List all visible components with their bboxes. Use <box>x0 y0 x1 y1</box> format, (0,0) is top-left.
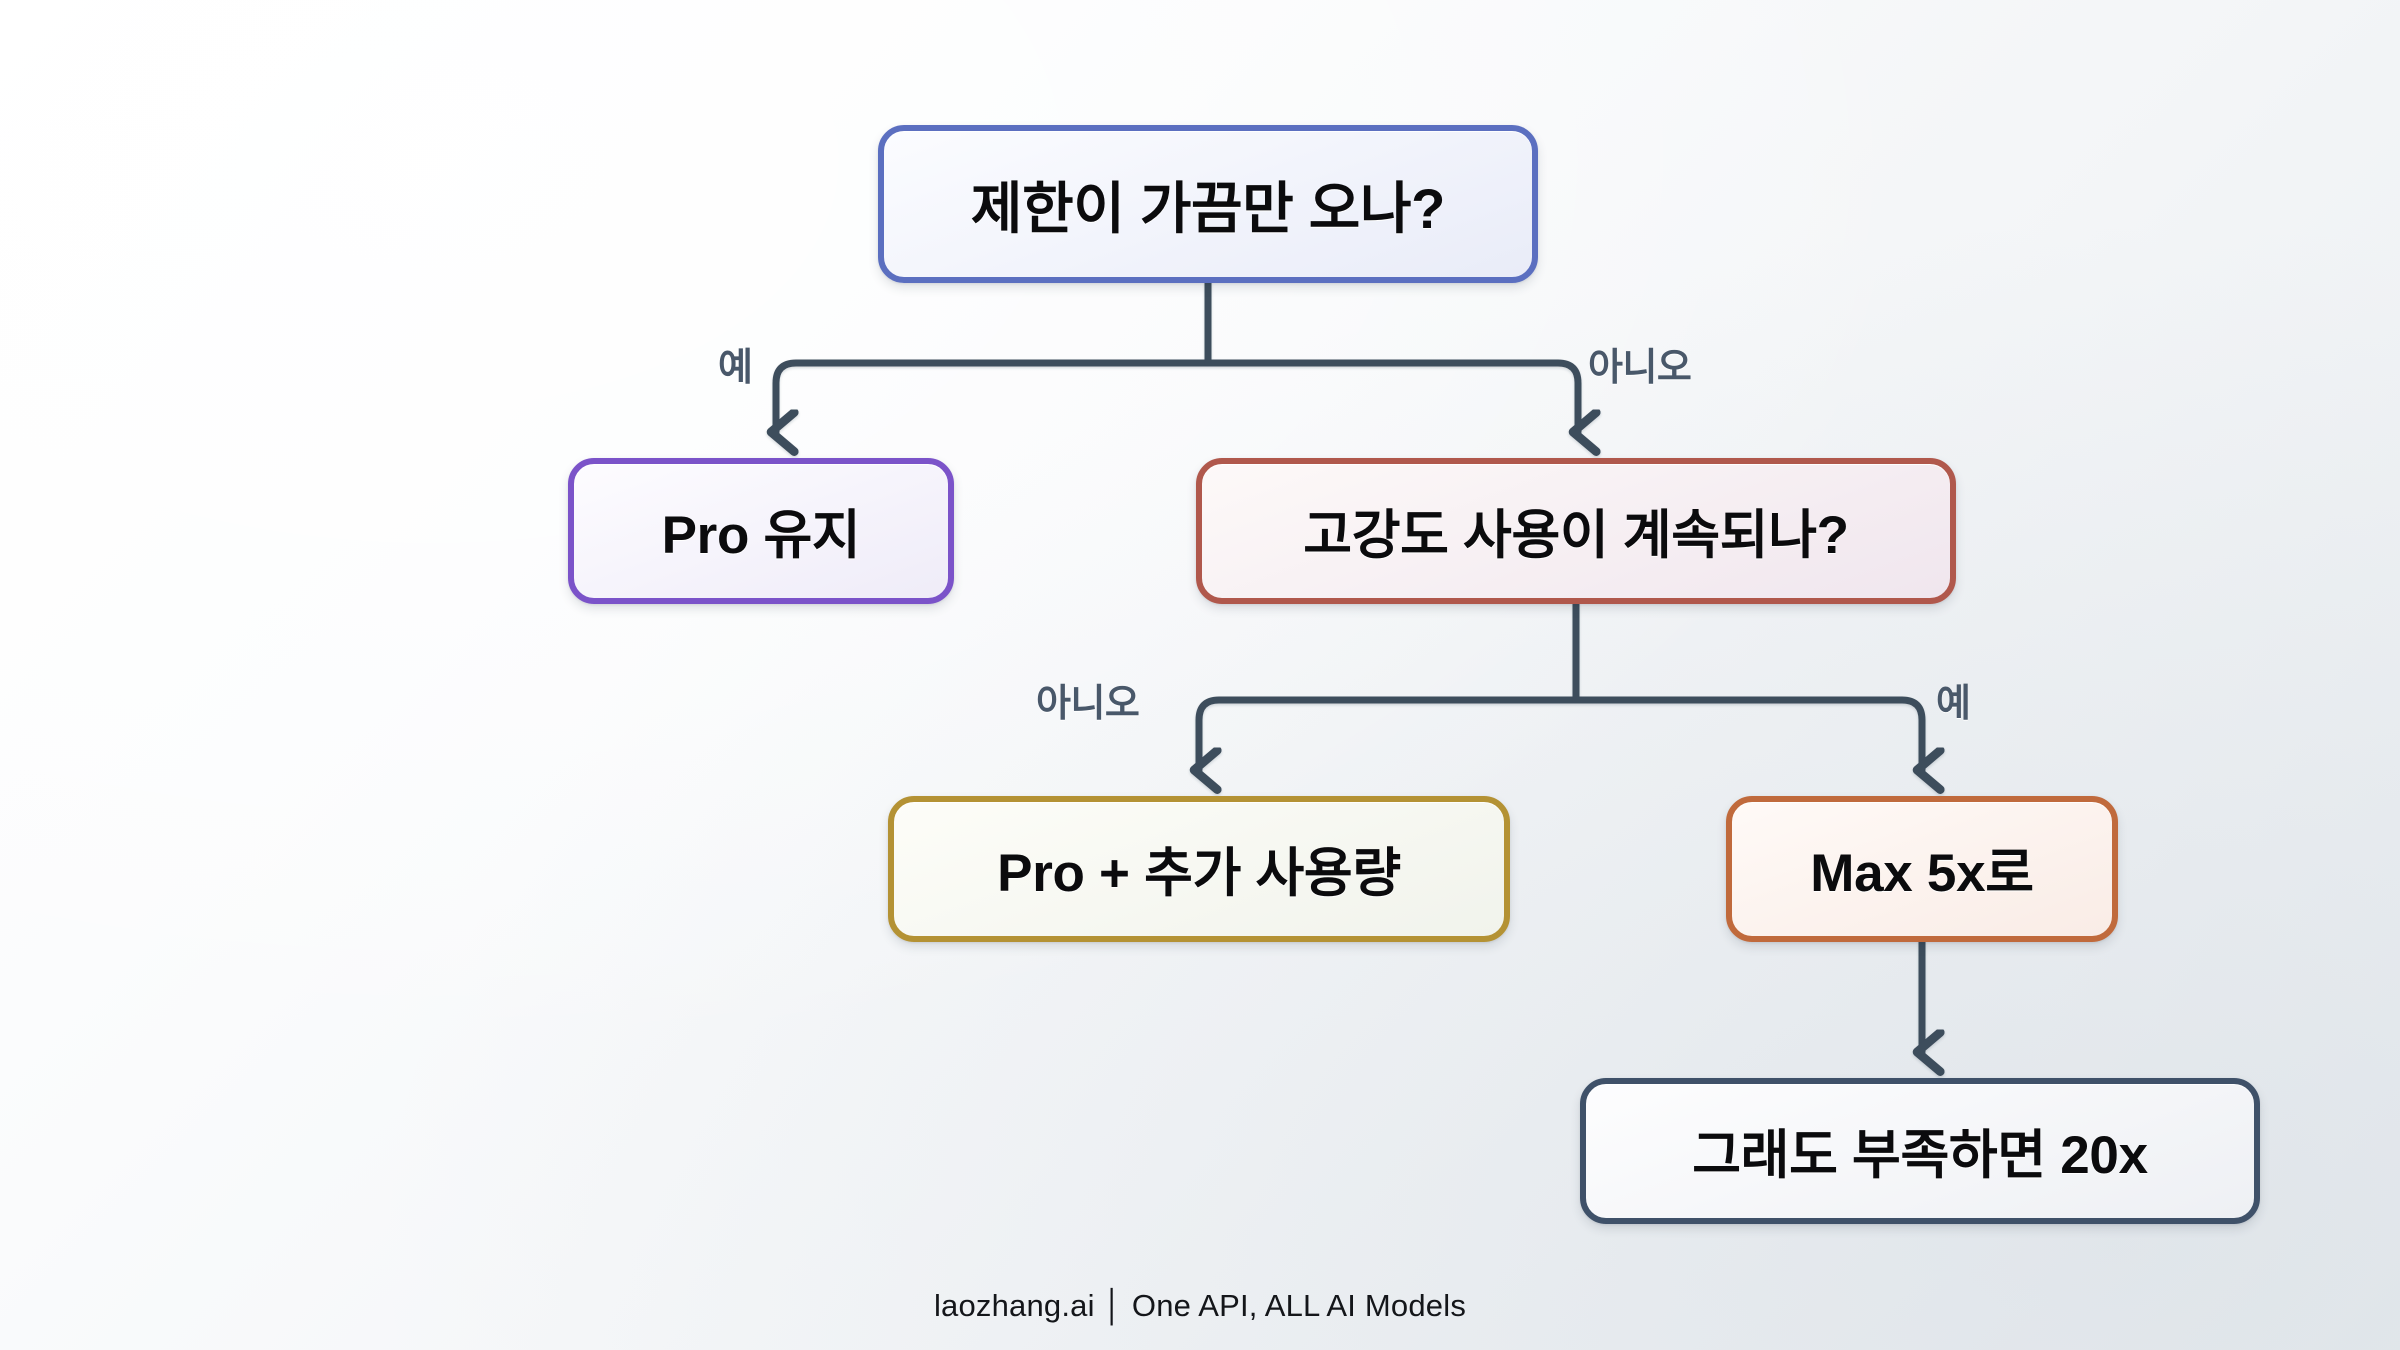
node-keep-pro[interactable]: Pro 유지 <box>568 458 954 604</box>
edge-label-yes-heavy: 예 <box>1936 672 1970 727</box>
node-heavy-use[interactable]: 고강도 사용이 계속되나? <box>1196 458 1956 604</box>
footer-branding: laozhang.ai │ One API, ALL AI Models <box>0 1288 2400 1324</box>
edge-heavy-to-pro-extra <box>1199 700 1576 770</box>
diagram-canvas: 제한이 가끔만 오나? Pro 유지 고강도 사용이 계속되나? Pro + 추… <box>0 0 2400 1350</box>
node-root[interactable]: 제한이 가끔만 오나? <box>878 125 1538 283</box>
edge-root-to-heavy-use <box>1208 363 1578 432</box>
node-max-5x[interactable]: Max 5x로 <box>1726 796 2118 942</box>
edge-heavy-to-max-5x <box>1576 700 1922 770</box>
edge-label-no-heavy: 아니오 <box>1036 672 1139 727</box>
edge-label-yes-root: 예 <box>718 336 752 391</box>
edge-root-to-keep-pro <box>776 363 1208 432</box>
node-pro-extra[interactable]: Pro + 추가 사용량 <box>888 796 1510 942</box>
node-still-short-20x[interactable]: 그래도 부족하면 20x <box>1580 1078 2260 1224</box>
edge-label-no-root: 아니오 <box>1588 336 1691 391</box>
